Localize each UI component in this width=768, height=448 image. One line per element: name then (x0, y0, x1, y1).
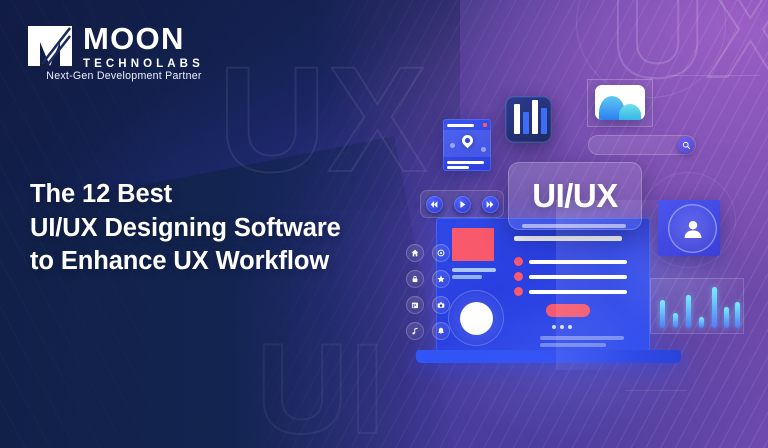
watermark-ux-middle: UX (218, 58, 428, 181)
music-note-icon[interactable] (406, 322, 424, 340)
laptop-screen-mockup (436, 218, 650, 351)
lock-icon[interactable] (406, 270, 424, 288)
watermark-ui-bottom-left: UI (256, 338, 386, 443)
headline-line-3: to Enhance UX Workflow (30, 245, 430, 279)
image-placeholder-block (452, 228, 494, 261)
chart-bar (660, 300, 665, 328)
chart-bar (724, 307, 729, 328)
map-card (443, 119, 491, 171)
bullet-dot (514, 272, 523, 281)
icon-grid-panel (404, 244, 452, 342)
home-icon[interactable] (406, 244, 424, 262)
headline-line-1: The 12 Best (30, 178, 430, 212)
play-icon[interactable] (454, 196, 471, 213)
user-avatar-icon (668, 204, 717, 253)
chart-bar (514, 104, 520, 134)
image-gallery-icon (595, 85, 645, 120)
map-point (450, 143, 455, 148)
gear-icon[interactable] (432, 244, 450, 262)
logo-wordmark: MOON TECHNOLABS (83, 24, 204, 73)
text-line (447, 161, 484, 164)
text-line (452, 275, 482, 279)
logo-name: MOON (83, 21, 185, 56)
chart-bar (541, 108, 547, 134)
analytics-bar-chart (650, 278, 744, 334)
chart-bar (735, 302, 740, 328)
calendar-icon[interactable] (406, 296, 424, 314)
bar-chart-icon-card (505, 96, 552, 143)
text-line (540, 343, 606, 347)
fast-forward-icon[interactable] (482, 196, 499, 213)
star-icon[interactable] (432, 270, 450, 288)
page-title: The 12 Best UI/UX Designing Software to … (30, 178, 430, 279)
bullet-dot (514, 287, 523, 296)
card-title-bar (447, 124, 474, 127)
decorative-triangle-icon (668, 0, 760, 76)
brand-logo[interactable]: MOON TECHNOLABS Next-Gen Development Par… (26, 24, 204, 73)
bullet-dot (514, 257, 523, 266)
uiux-label-panel: UI/UX (508, 162, 642, 230)
chart-bar (686, 295, 691, 328)
uiux-label: UI/UX (532, 177, 618, 215)
status-dot (483, 123, 487, 127)
chart-bar (673, 313, 678, 328)
chart-bar (523, 112, 529, 134)
pagination-dots (552, 325, 572, 329)
logo-subname: TECHNOLABS (83, 58, 204, 70)
avatar (460, 302, 493, 335)
camera-icon[interactable] (432, 296, 450, 314)
bell-icon[interactable] (432, 322, 450, 340)
laptop-base (416, 350, 681, 363)
bullet-line (529, 260, 627, 264)
chart-bar (699, 317, 704, 329)
map-point (481, 147, 486, 152)
text-line (514, 236, 622, 241)
chart-bar (712, 287, 717, 328)
text-line (452, 268, 496, 272)
bullet-line (529, 275, 627, 279)
moon-technolabs-m-mark-icon (26, 24, 74, 68)
decorative-hexagon-icon (596, 390, 716, 448)
rewind-icon[interactable] (426, 196, 443, 213)
text-line (540, 336, 624, 340)
search-icon[interactable] (678, 137, 694, 153)
blog-banner: UX UX UI MOON TECHNOLABS Next-Gen Develo… (0, 0, 768, 448)
watermark-ux-top-right: UX (610, 0, 768, 86)
search-input[interactable] (588, 135, 696, 155)
headline-line-2: UI/UX Designing Software (30, 212, 430, 246)
bullet-line (529, 290, 627, 294)
chart-bar (532, 100, 538, 134)
cta-pill-button[interactable] (546, 304, 590, 317)
mountain-shape (619, 104, 641, 120)
logo-tagline: Next-Gen Development Partner (26, 70, 222, 82)
text-line (447, 166, 469, 169)
media-player-controls[interactable] (420, 190, 504, 218)
